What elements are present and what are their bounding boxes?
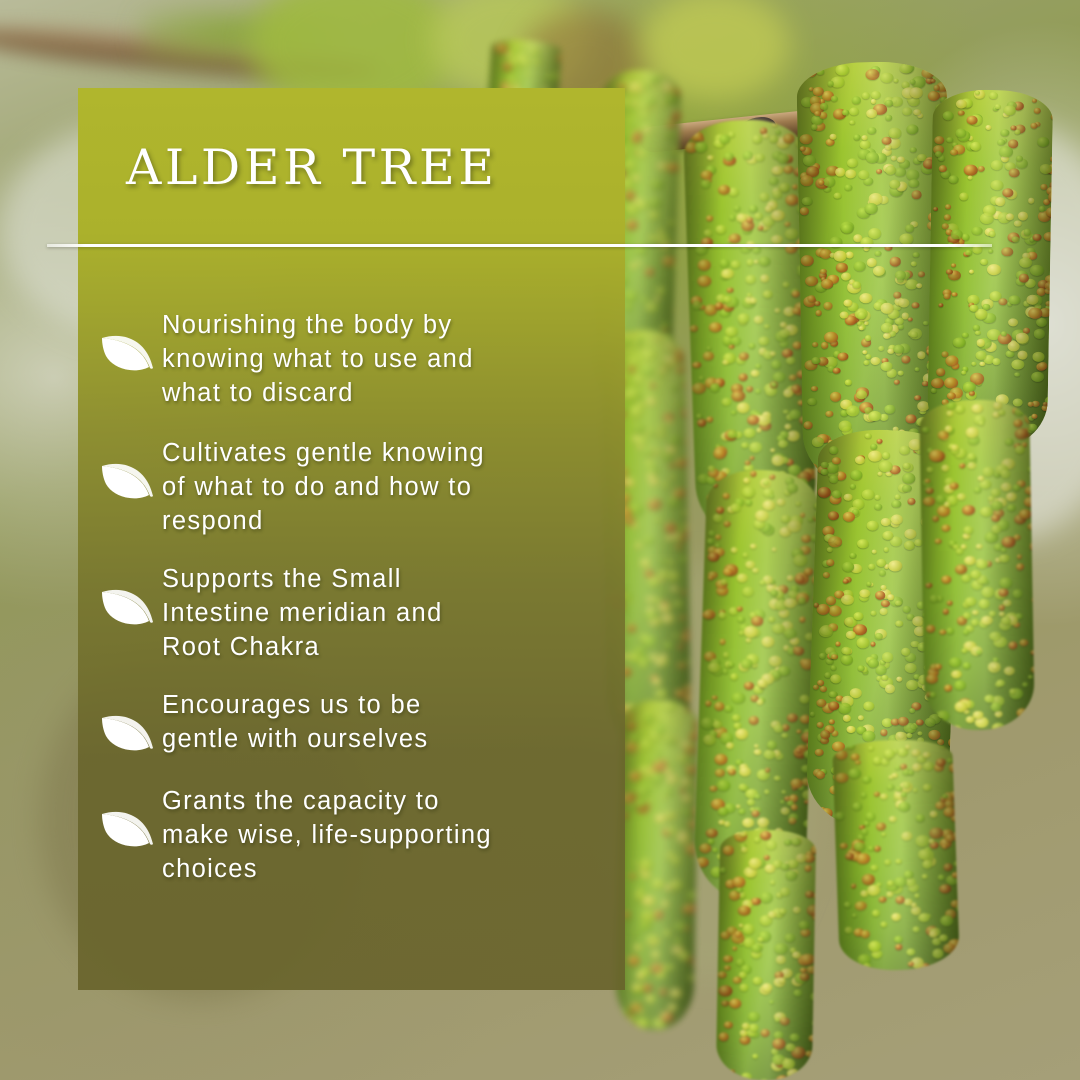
poster-canvas: ALDER TREE Nourishing the body by knowin… [0, 0, 1080, 1080]
benefit-list: Nourishing the body by knowing what to u… [100, 306, 630, 912]
catkin [716, 829, 816, 1080]
title-divider [47, 244, 992, 247]
list-item: Cultivates gentle knowing of what to do … [100, 434, 630, 538]
leaf-icon [100, 686, 162, 754]
catkin [919, 399, 1035, 731]
leaf-icon [100, 306, 162, 374]
list-item-label: Grants the capacity to make wise, life-s… [162, 782, 630, 886]
list-item-label: Supports the Small Intestine meridian an… [162, 560, 630, 664]
leaf-icon [100, 434, 162, 502]
list-item: Supports the Small Intestine meridian an… [100, 560, 630, 664]
leaf-icon [100, 782, 162, 850]
catkin [832, 738, 960, 972]
list-item-label: Cultivates gentle knowing of what to do … [162, 434, 630, 538]
page-title: ALDER TREE [126, 139, 498, 196]
list-item-label: Encourages us to be gentle with ourselve… [162, 686, 630, 756]
list-item: Encourages us to be gentle with ourselve… [100, 686, 630, 756]
list-item: Nourishing the body by knowing what to u… [100, 306, 630, 410]
list-item: Grants the capacity to make wise, life-s… [100, 782, 630, 886]
list-item-label: Nourishing the body by knowing what to u… [162, 306, 630, 410]
leaf-icon [100, 560, 162, 628]
catkin [927, 89, 1053, 451]
